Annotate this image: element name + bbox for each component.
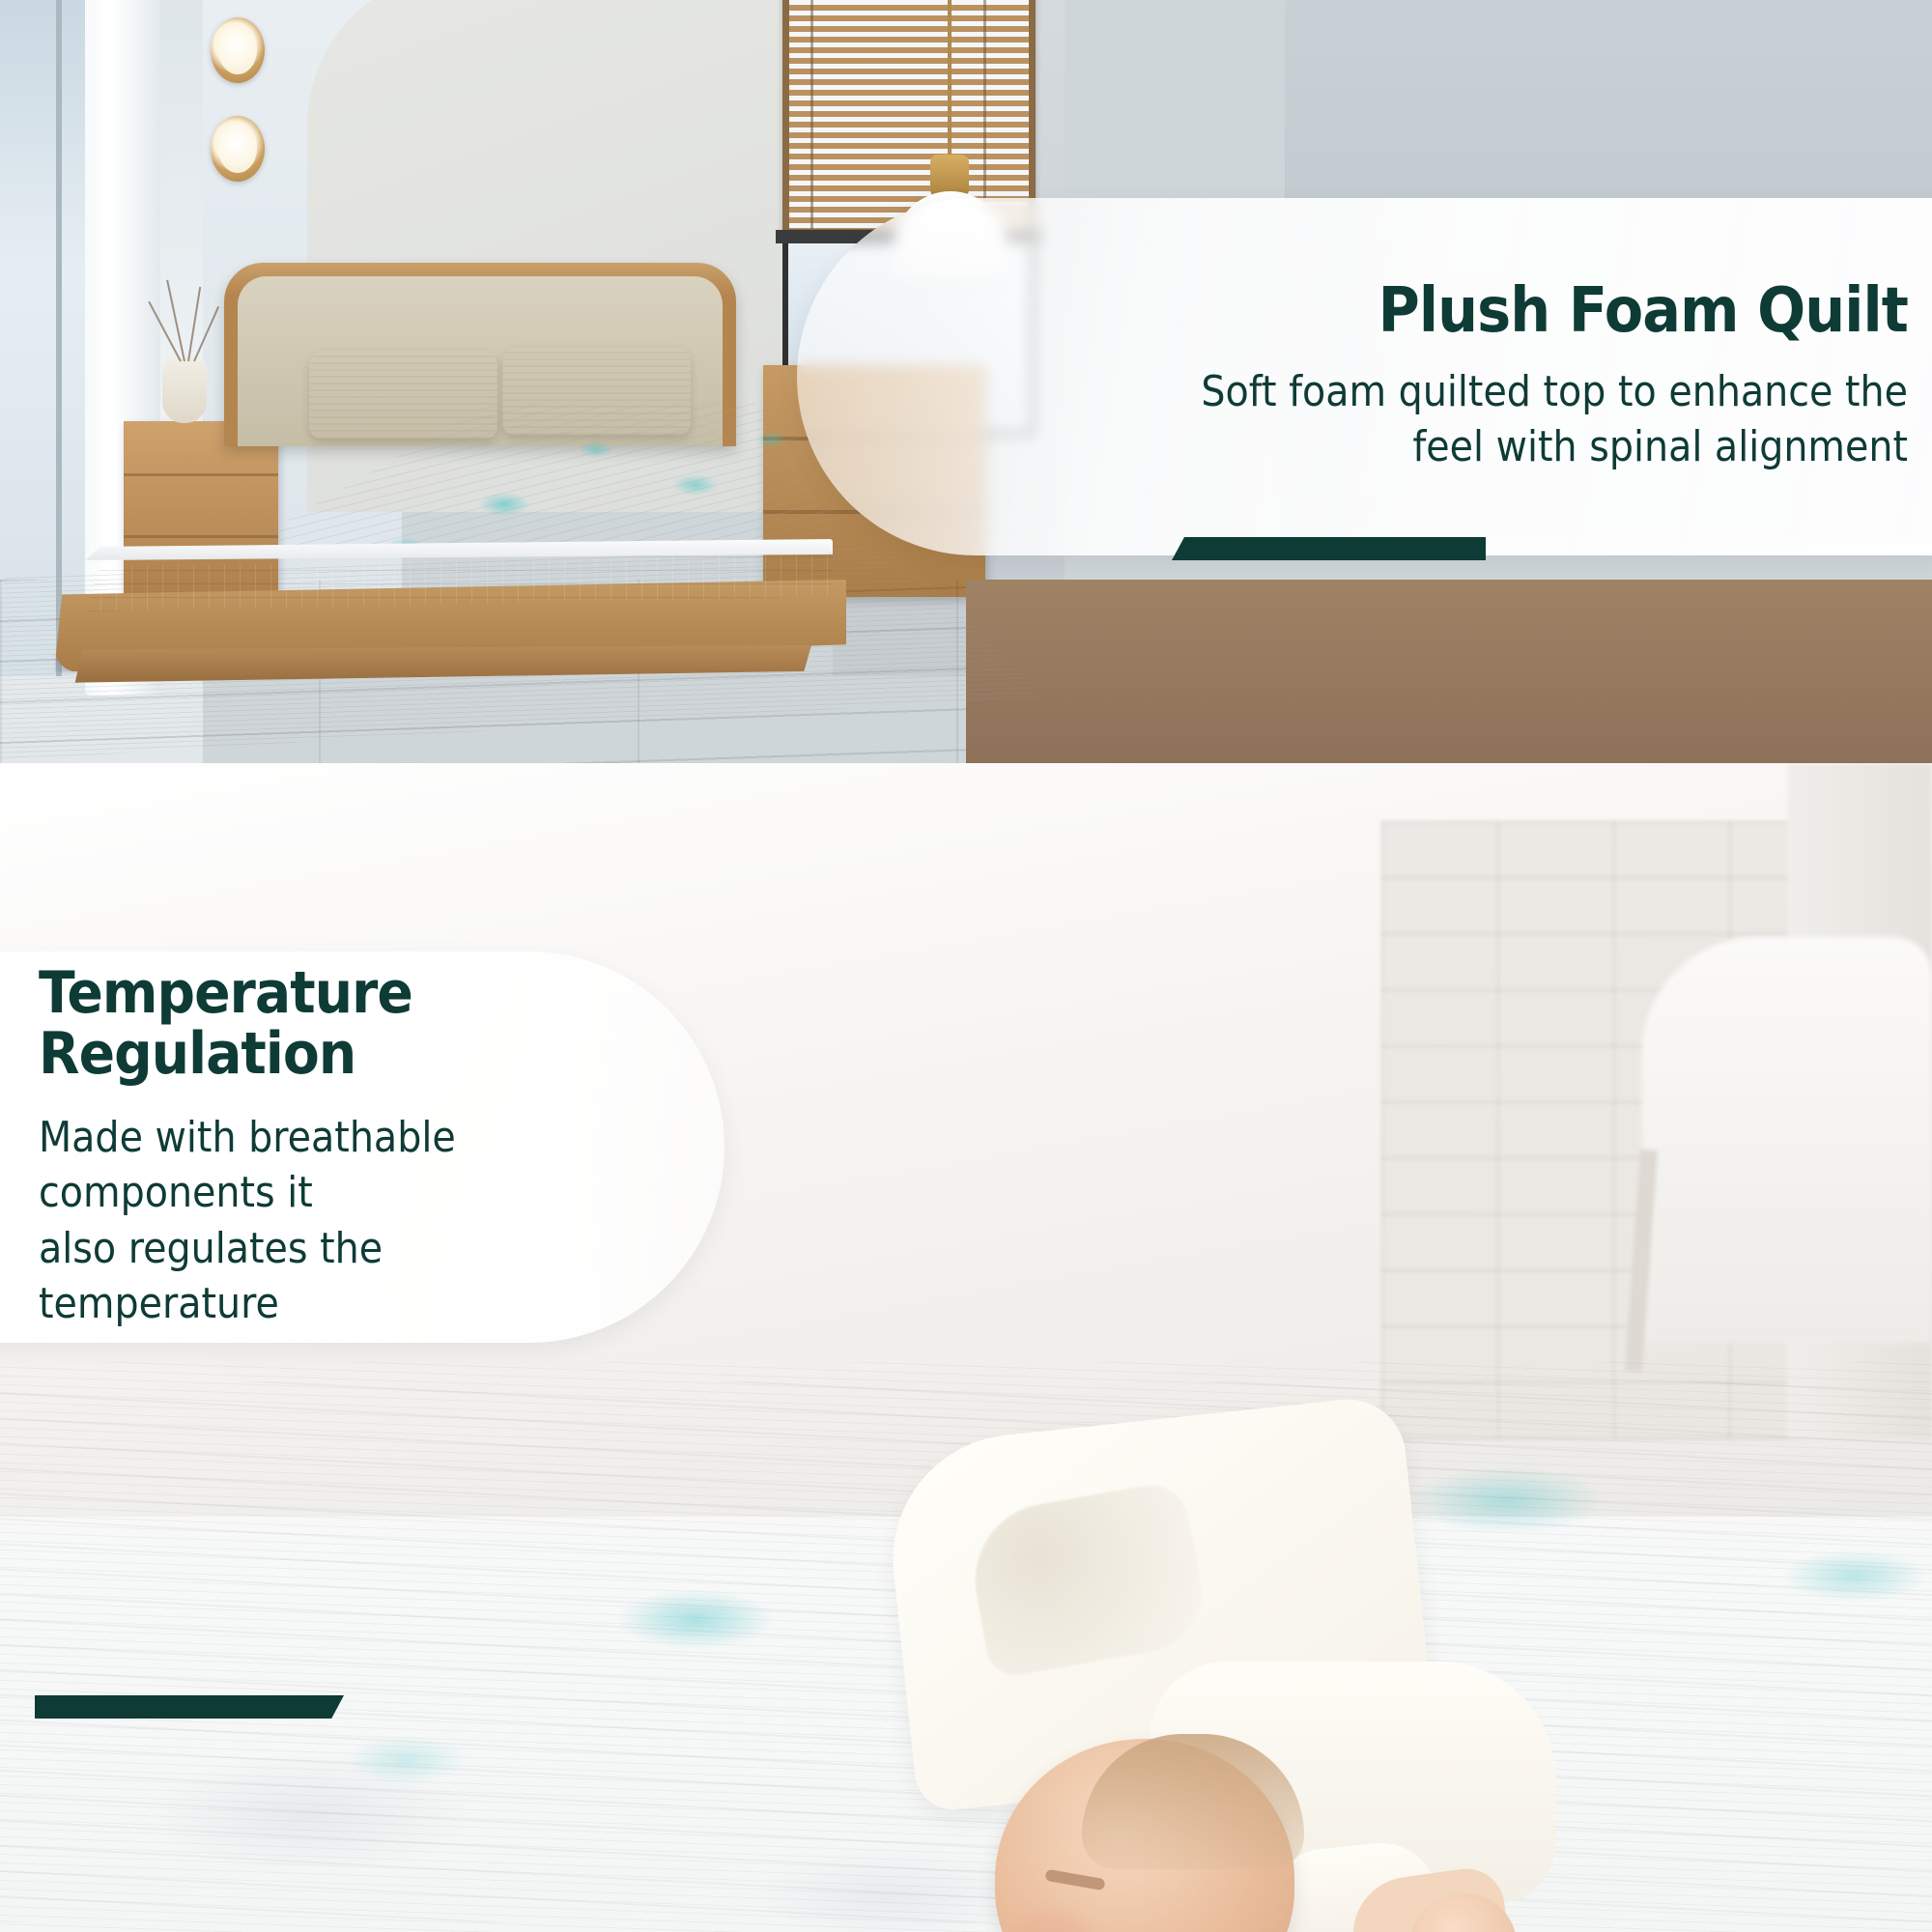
mattress — [70, 404, 833, 607]
feature-description-line: Made with breathable components it — [39, 1110, 552, 1220]
feature-description: Made with breathable components it also … — [39, 1110, 552, 1331]
feature-description-line: feel with spinal alignment — [1169, 420, 1908, 474]
feature-description-line: Soft foam quilted top to enhance the — [1169, 365, 1908, 419]
feature-description-line: also regulates the temperature — [39, 1221, 552, 1331]
accent-bar-temperature-regulation — [35, 1695, 344, 1719]
pendant-lamp-cord — [948, 0, 952, 162]
feature-title: Plush Foam Quilt — [1152, 279, 1908, 344]
blurred-chair — [1642, 937, 1932, 1343]
blind-cord-left — [810, 0, 813, 229]
accent-bar-plush-foam-quilt — [1172, 537, 1486, 560]
venetian-blinds — [789, 0, 1029, 229]
wall-sconce-upper-icon — [211, 17, 265, 83]
product-feature-graphic: Plush Foam Quilt Soft foam quilted top t… — [0, 0, 1932, 1932]
mattress-teal-side-panel — [85, 554, 833, 611]
wall-sconce-lower-icon — [211, 116, 265, 182]
feature-description: Soft foam quilted top to enhance the fee… — [1169, 365, 1908, 474]
sleeping-baby-scene — [0, 763, 1932, 1932]
blind-cord-right — [983, 0, 986, 229]
feature-card-temperature-regulation: Temperature Regulation Made with breatha… — [0, 952, 724, 1343]
hardwood-floor-far — [966, 580, 1932, 763]
feature-title: Temperature Regulation — [39, 963, 563, 1085]
feature-card-plush-foam-quilt: Plush Foam Quilt Soft foam quilted top t… — [797, 198, 1932, 555]
